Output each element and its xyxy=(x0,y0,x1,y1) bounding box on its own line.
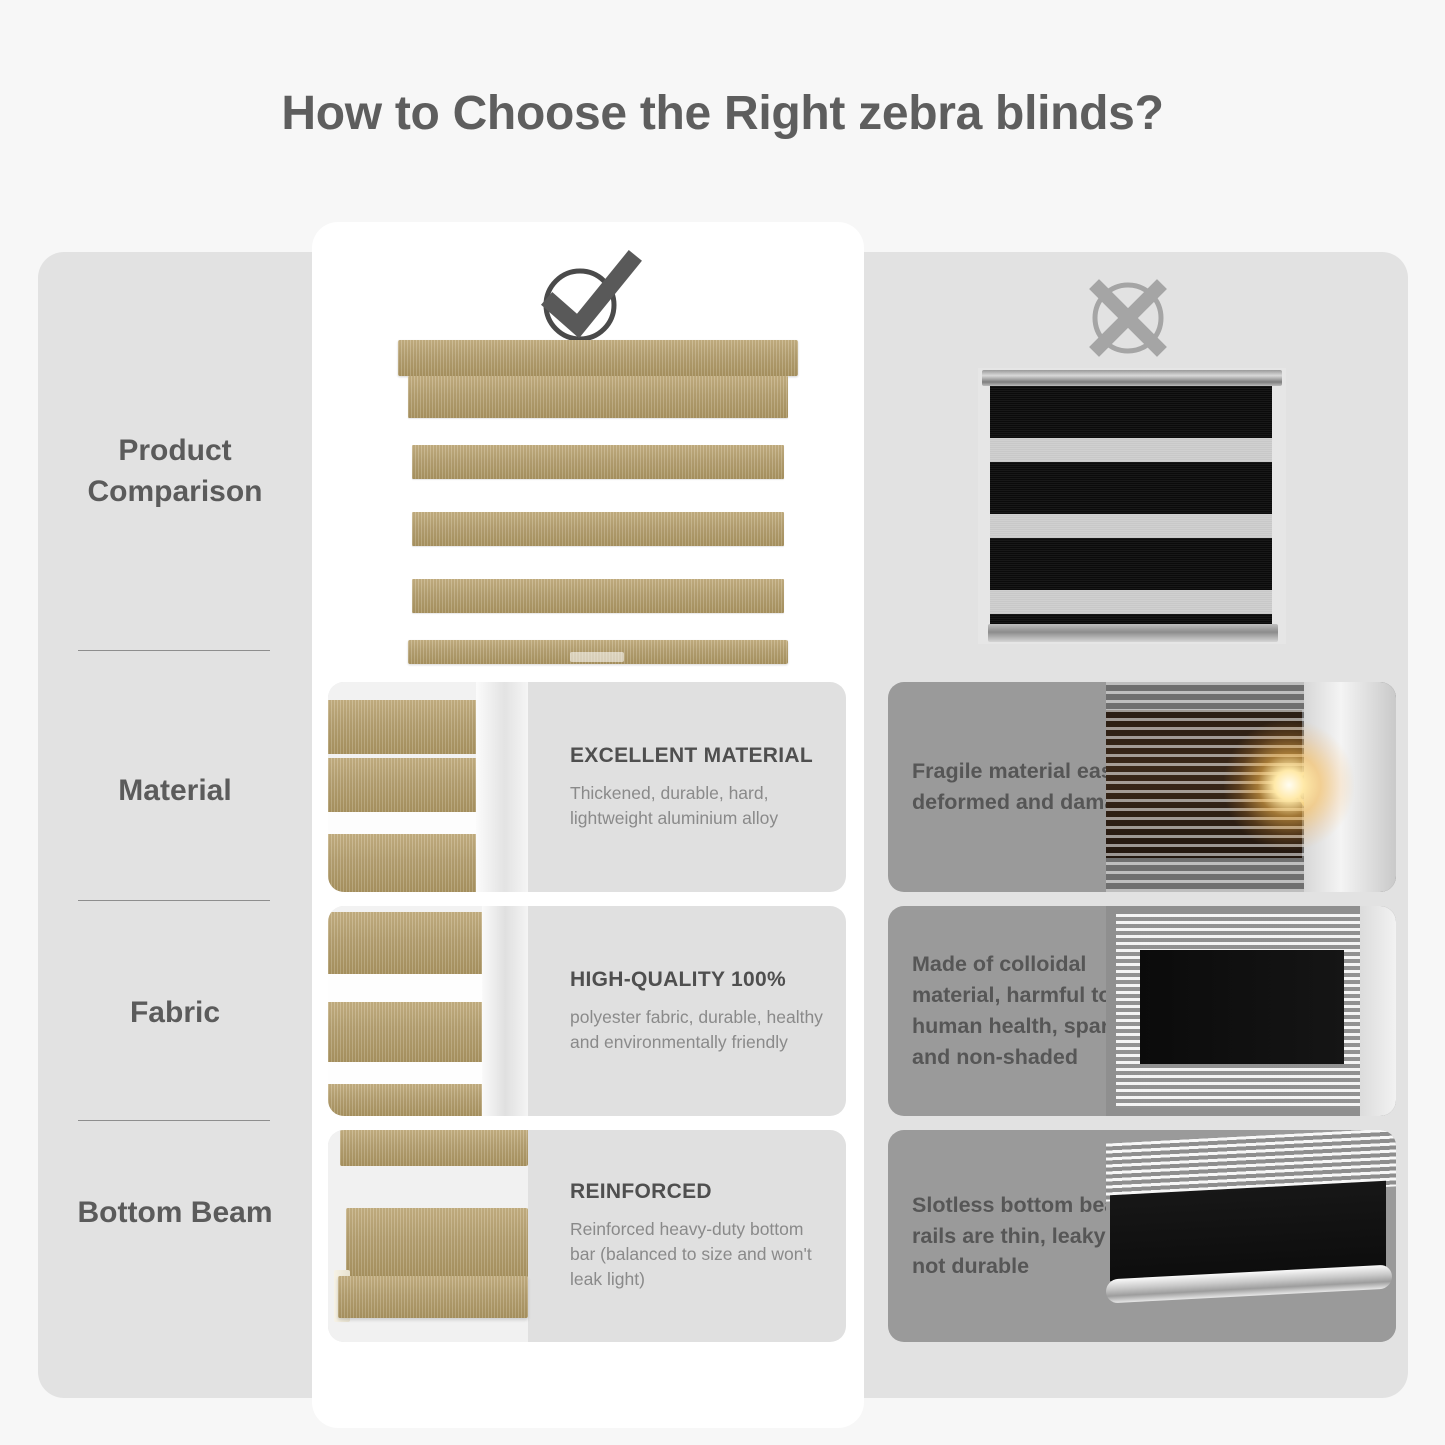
blind-headrail xyxy=(982,370,1282,386)
bottom-beam-photo-bad xyxy=(1106,1130,1396,1342)
good-card-heading: REINFORCED xyxy=(570,1180,830,1204)
good-card-heading: HIGH-QUALITY 100% xyxy=(570,968,830,992)
check-circle-icon xyxy=(533,250,643,350)
bad-card-bottom-beam: Slotless bottom beam rails are thin, lea… xyxy=(888,1130,1396,1342)
page-title: How to Choose the Right zebra blinds? xyxy=(0,86,1445,141)
recommended-blind-image xyxy=(398,340,798,665)
blind-slat xyxy=(412,445,784,479)
blind-pull-tab xyxy=(570,652,624,662)
blind-fabric xyxy=(990,386,1272,624)
sidebar-divider xyxy=(78,650,270,651)
sidebar-item-fabric: Fabric xyxy=(38,992,312,1033)
good-card-body: Thickened, durable, hard, lightweight al… xyxy=(570,781,830,831)
material-photo-bad xyxy=(1106,682,1396,892)
fabric-photo-good xyxy=(328,906,528,1116)
criteria-sidebar: Product Comparison Material Fabric Botto… xyxy=(38,252,312,1398)
material-photo-good xyxy=(328,682,528,892)
cross-circle-icon xyxy=(1073,268,1183,368)
sidebar-item-material: Material xyxy=(38,770,312,811)
not-recommended-blind-image xyxy=(978,368,1286,644)
blind-slat xyxy=(412,579,784,613)
good-card-material: EXCELLENT MATERIAL Thickened, durable, h… xyxy=(328,682,846,892)
good-card-fabric: HIGH-QUALITY 100% polyester fabric, dura… xyxy=(328,906,846,1116)
sidebar-item-bottom-beam: Bottom Beam xyxy=(38,1192,312,1233)
sidebar-item-product-comparison: Product Comparison xyxy=(38,430,312,513)
blind-slat xyxy=(408,376,788,418)
sidebar-divider xyxy=(78,900,270,901)
sidebar-divider xyxy=(78,1120,270,1121)
good-card-heading: EXCELLENT MATERIAL xyxy=(570,744,830,768)
fabric-photo-bad xyxy=(1106,906,1396,1116)
bad-card-material: Fragile material easily deformed and dam… xyxy=(888,682,1396,892)
bad-card-fabric: Made of colloidal material, harmful to h… xyxy=(888,906,1396,1116)
good-card-body: polyester fabric, durable, healthy and e… xyxy=(570,1005,830,1055)
bottom-beam-photo-good xyxy=(328,1130,528,1342)
good-card-bottom-beam: REINFORCED Reinforced heavy-duty bottom … xyxy=(328,1130,846,1342)
blind-bottom-bar xyxy=(988,624,1278,642)
good-card-body: Reinforced heavy-duty bottom bar (balanc… xyxy=(570,1217,830,1292)
sun-flare-icon xyxy=(1224,720,1354,850)
blind-headrail xyxy=(398,340,798,376)
blind-slat xyxy=(412,512,784,546)
